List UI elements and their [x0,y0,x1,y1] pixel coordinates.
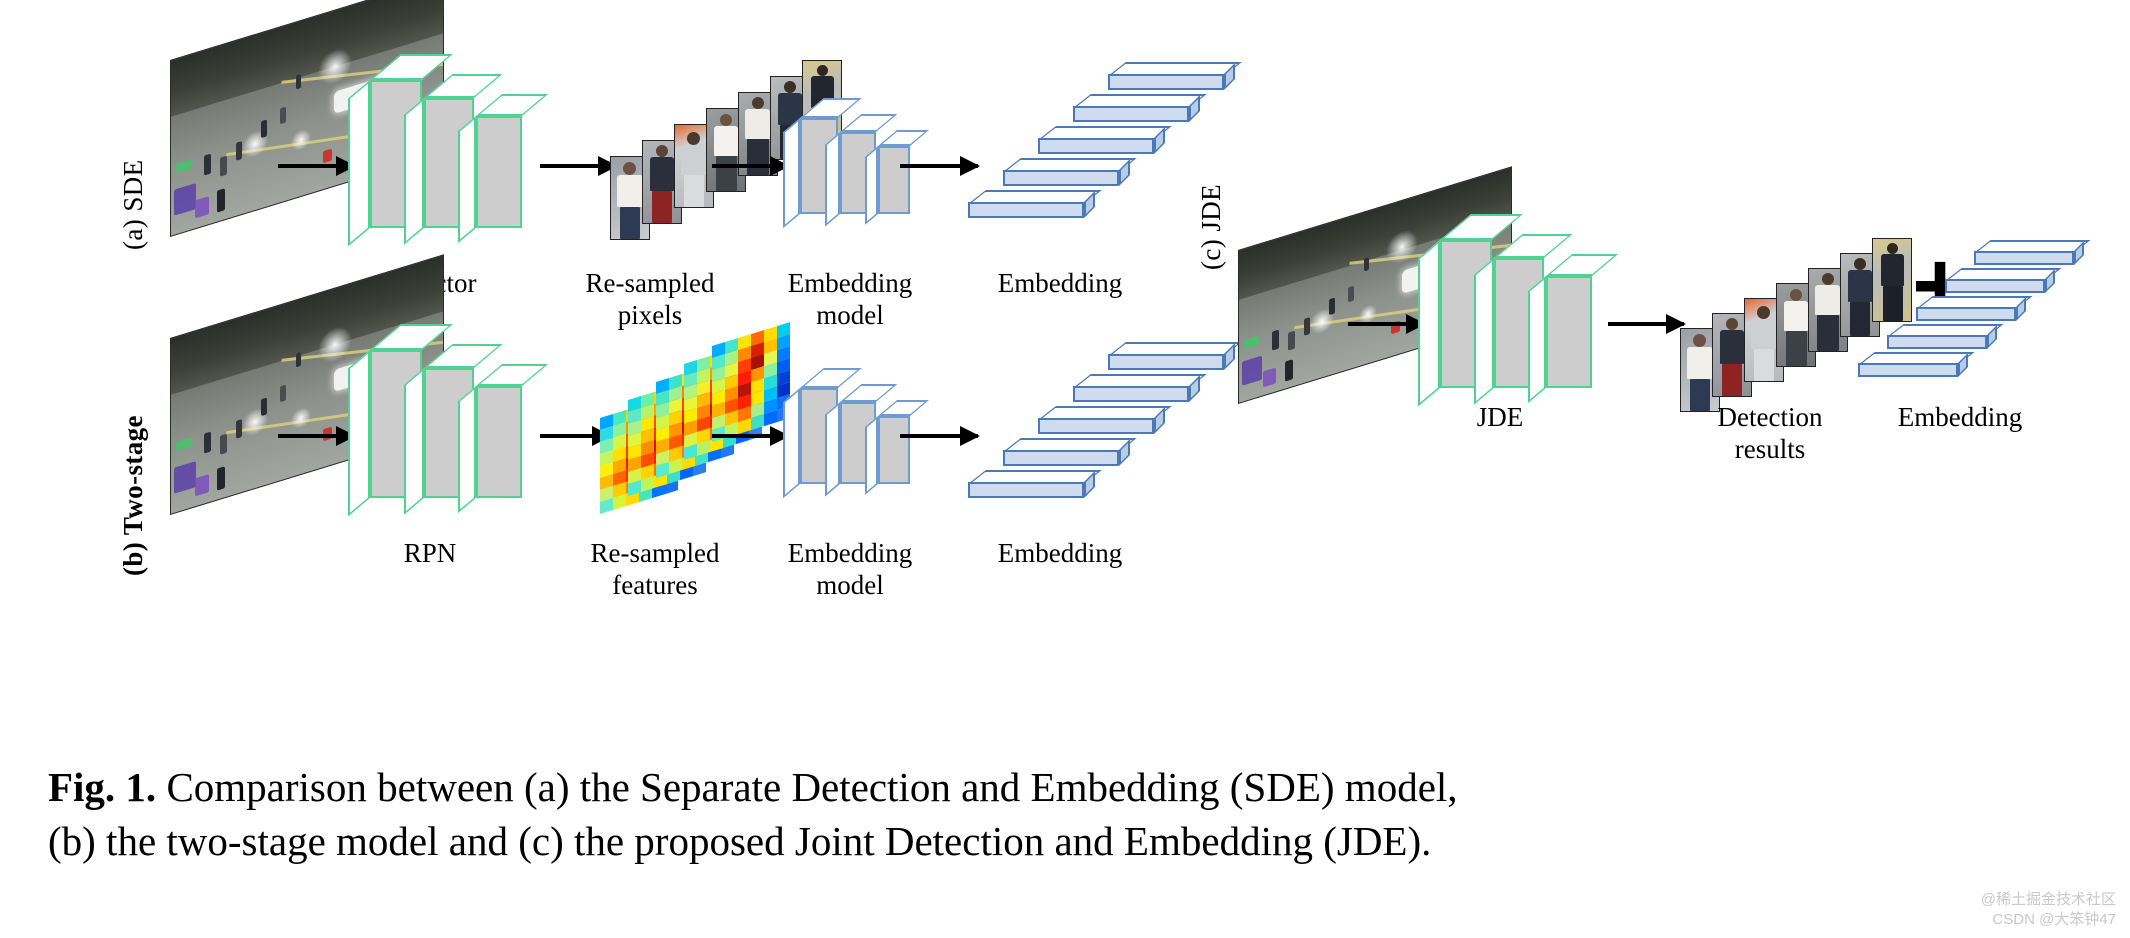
slab-side [1418,240,1440,406]
figure-caption: Fig. 1. Comparison between (a) the Separ… [48,760,2088,868]
watermark-line-1: @稀土掘金技术社区 [1981,890,2116,910]
slab-face [1546,276,1592,388]
slab-top [424,344,503,368]
pedestrian [204,154,211,176]
embedding-bar [1887,324,1987,340]
pedestrian [261,119,267,138]
arrow-c-jde-to-results [1608,322,1684,326]
slab-top [878,130,929,146]
slab-side [865,416,878,495]
pedestrian [1304,317,1310,336]
crop-legs [716,156,737,191]
row-label-a: (a) SDE [118,159,149,250]
bar-front [968,202,1084,218]
crop-head [1822,273,1834,285]
crop-torso [681,145,707,175]
embedding-model-block-b [782,378,922,488]
embedding-model-block-a [782,108,922,218]
slab-side [348,350,370,516]
bar-front [1916,307,2016,321]
crop-head [720,114,732,126]
crop-torso [1687,347,1713,379]
embedding-bars-c [1858,240,2078,380]
slab-side [783,118,800,228]
slab-top [840,384,897,402]
slab-side [783,388,800,498]
embedding-bar [1073,374,1189,392]
slab-side [865,146,878,225]
crop-legs [620,207,640,239]
jde-block [1420,228,1600,398]
crop-legs [1786,331,1807,366]
crop-head [687,132,700,145]
arrow-a-detector-to-crops [540,164,616,168]
detector-block-a [350,68,530,238]
slab-side [825,132,840,227]
bar-front [1974,251,2074,265]
slab [476,386,522,498]
bar-front [1003,170,1119,186]
pedestrian [217,188,225,212]
arrow-b-features-to-embedding-model [712,434,788,438]
label-embedding-b: Embedding [930,538,1190,570]
crop-head [1790,289,1802,301]
embedding-bar [1038,126,1154,144]
embedding-bar [1974,240,2074,256]
slab-side [458,116,476,243]
embedding-bar [1916,296,2016,312]
embedding-bar [1003,438,1119,456]
pedestrian [1364,257,1369,272]
slab-face [476,386,522,498]
crop-torso [1751,319,1777,349]
embedding-bar [968,190,1084,208]
crop-torso [617,175,643,207]
slab [1546,276,1592,388]
slab-side [348,80,370,246]
crop-head [784,81,796,93]
label-jde: JDE [1370,402,1630,434]
caption-line-1: Comparison between (a) the Separate Dete… [156,764,1457,810]
pedestrian [236,140,242,160]
bar-front [1073,106,1189,122]
crop-head [623,162,636,175]
embedding-bar [1945,268,2045,284]
embedding-bar [1038,406,1154,424]
slab-side [825,402,840,497]
crop-legs [1817,315,1839,351]
label-embedding-c: Embedding [1830,402,2090,434]
bar-front [968,482,1084,498]
bar-front [1003,450,1119,466]
slab-top [476,94,548,116]
pedestrian [236,418,242,438]
slab-side [458,386,476,513]
row-label-c: (c) JDE [1196,184,1227,270]
crop-legs [1722,364,1742,396]
pedestrian [1329,297,1335,315]
crop-legs [747,139,769,175]
pedestrian [296,73,301,89]
embedding-bar [1858,352,1958,368]
row-label-b: (b) Two-stage [118,415,149,576]
crop-torso [1815,285,1840,315]
slab-top [424,74,503,98]
pedestrian [296,351,301,367]
bar-front [1073,386,1189,402]
crop-torso [650,157,674,191]
crop-head [817,65,828,76]
slab-top [878,400,929,416]
crop-head [1693,334,1706,347]
slab-top [1546,254,1618,276]
bar-front [1858,363,1958,377]
slab [878,146,910,214]
slab [476,116,522,228]
arrow-b-image-to-rpn [278,434,354,438]
crop-head [752,97,764,109]
crop-head [1726,318,1738,330]
pedestrian [204,432,211,454]
slab-face [878,146,910,214]
pedestrian [217,466,225,490]
watermark: @稀土掘金技术社区 CSDN @大笨钟47 [1981,890,2116,931]
bar-front [1108,354,1224,370]
slab-face [878,416,910,484]
embedding-bar [1108,62,1224,80]
embedding-bars-b [968,342,1188,482]
pedestrian [1285,359,1293,381]
arrow-c-image-to-jde [1348,322,1424,326]
crop-head [656,145,668,157]
watermark-line-2: CSDN @大笨钟47 [1981,910,2116,930]
slab-side [1474,258,1494,405]
crop-legs [684,175,704,207]
slab [878,416,910,484]
arrow-a-image-to-detector [278,164,354,168]
bar-front [1108,74,1224,90]
caption-label: Fig. 1. [48,764,156,810]
bar-front [1038,418,1154,434]
feature-sheet [712,322,790,442]
pedestrian [220,156,227,177]
slab-side [404,98,424,245]
arrow-b-model-to-embedding [900,434,978,438]
pedestrian [1288,331,1295,351]
label-embedding-a: Embedding [930,268,1190,300]
embedding-bar [1003,158,1119,176]
crop-torso [1720,330,1744,364]
bar-front [1945,279,2045,293]
figure-canvas: (a) SDE [0,0,2130,938]
arrow-a-model-to-embedding [900,164,978,168]
pedestrian [261,397,267,416]
pedestrian [220,434,227,455]
pedestrian [1272,330,1279,351]
rpn-block-b [350,338,530,508]
bar-front [1038,138,1154,154]
slab-top [476,364,548,386]
crop-torso [745,109,770,139]
embedding-bar [968,470,1084,488]
embedding-bar [1073,94,1189,112]
crop-torso [1784,301,1808,331]
bar-front [1887,335,1987,349]
slab-top [840,114,897,132]
crop-legs [1754,349,1774,381]
embedding-bars-a [968,62,1188,202]
arrow-a-crops-to-embedding-model [712,164,788,168]
pedestrian [280,384,286,402]
caption-line-2: (b) the two-stage model and (c) the prop… [48,818,1431,864]
pedestrian [280,106,286,124]
crop-torso [714,126,738,156]
slab-side [1528,276,1546,403]
slab-face [476,116,522,228]
embedding-bar [1108,342,1224,360]
crop-legs [652,191,672,223]
pedestrian [1348,286,1354,303]
crop-head [1757,306,1770,319]
slab-top [1494,234,1573,258]
slab-side [404,368,424,515]
